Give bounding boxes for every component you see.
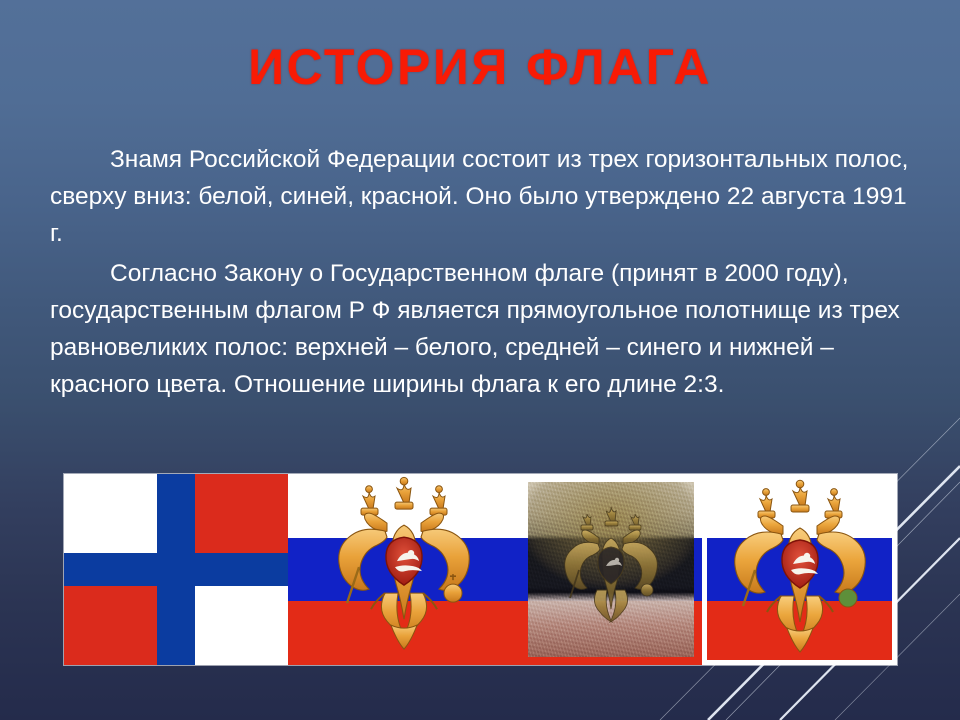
slide-title: ИСТОРИЯ ФЛАГА <box>0 40 960 95</box>
flag-image-tricolour-with-eagle <box>702 474 897 665</box>
slide-canvas: ИСТОРИЯ ФЛАГА Знамя Российской Федерации… <box>0 0 960 720</box>
panel-white-frame <box>702 474 897 665</box>
aged-photograph-overlay <box>528 482 694 657</box>
double-headed-eagle-icon <box>559 500 663 640</box>
double-headed-eagle-icon <box>329 475 479 661</box>
paragraph-1: Знамя Российской Федерации состоит из тр… <box>50 141 912 252</box>
flag-image-tsar-naval-cross <box>64 474 288 665</box>
paragraph-2: Согласно Закону о Государственном флаге … <box>50 255 912 403</box>
slide-body-text: Знамя Российской Федерации состоит из тр… <box>50 141 912 406</box>
flag-history-picture-strip <box>64 474 897 665</box>
cross-vertical-bar <box>157 474 195 665</box>
flag-image-tricolour-with-eagle <box>288 474 520 665</box>
flag-image-historic-photo <box>520 474 702 665</box>
